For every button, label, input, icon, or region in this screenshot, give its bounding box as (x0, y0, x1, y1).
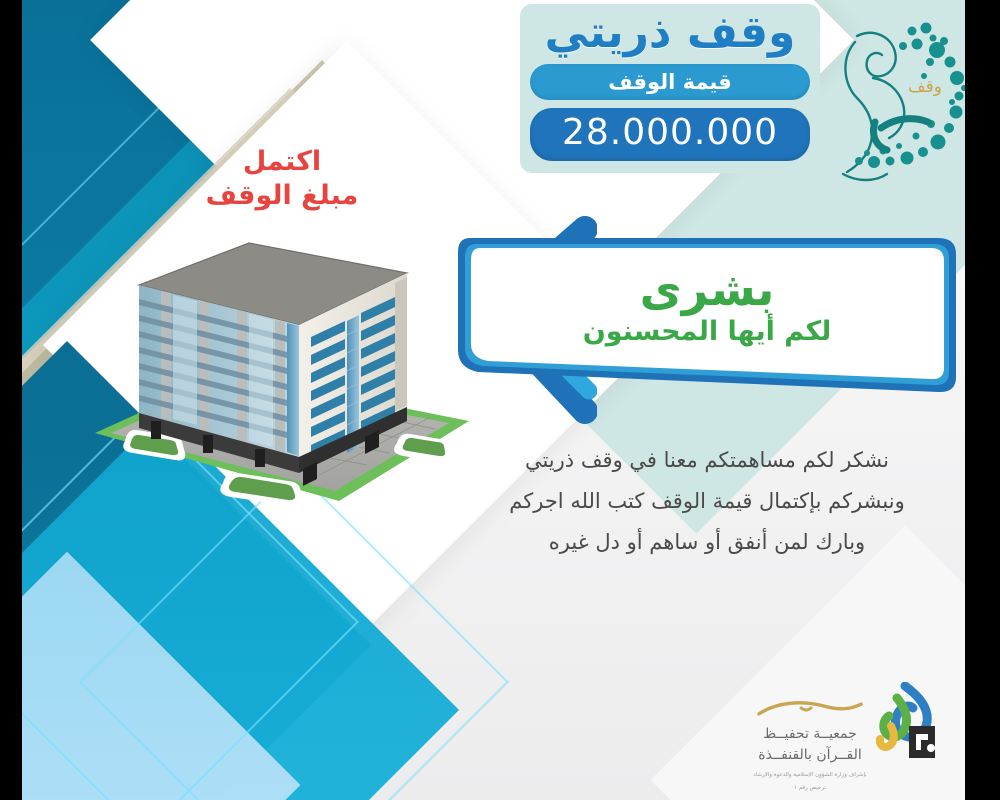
letterbox-bar-left (0, 0, 22, 800)
completed-badge-line1: اكتمل (192, 145, 372, 179)
artboard: وقف ذريتي قيمة الوقف 28.000.000 (22, 0, 965, 800)
letterbox-bar-right (965, 0, 1000, 800)
body-line-1: نشكر لكم مساهمتكم معنا في وقف ذريتي (452, 440, 962, 481)
brand-title: وقف ذريتي (530, 10, 810, 56)
header-plate: وقف ذريتي قيمة الوقف 28.000.000 (520, 4, 820, 173)
association-name-line1: جمعيــة تحفيــظ (751, 724, 869, 745)
waqf-thuriyati-logo: وقف (813, 6, 965, 196)
association-text-group: جمعيــة تحفيــظ القــرآن بالقنفــذة بإشر… (751, 682, 869, 793)
body-line-3: وبارك لمن أنفق أو ساهم أو دل غيره (452, 522, 962, 563)
association-swash-icon (751, 698, 869, 720)
association-name-line2: القــرآن بالقنفــذة (751, 745, 869, 766)
association-registration-line2: ترخيص رقم ١ (751, 784, 869, 792)
completed-badge-line2: مبلغ الوقف (192, 179, 372, 213)
waqf-value-label: قيمة الوقف (530, 64, 810, 100)
building-illustration (77, 225, 477, 515)
association-mark-icon (875, 682, 947, 764)
announcement-banner: بشرى لكم أيها المحسنون (452, 232, 962, 397)
header-panel: وقف ذريتي قيمة الوقف 28.000.000 (520, 4, 820, 173)
body-paragraph: نشكر لكم مساهمتكم معنا في وقف ذريتي ونبش… (452, 440, 962, 563)
association-registration-line1: بإشراف وزارة الشؤون الإسلامية والدعوة وا… (751, 771, 869, 779)
monogram-word-top: وقف (908, 77, 942, 97)
poster-root: وقف ذريتي قيمة الوقف 28.000.000 (0, 0, 1000, 800)
waqf-value-amount: 28.000.000 (530, 108, 810, 161)
completed-badge: اكتمل مبلغ الوقف (192, 145, 372, 213)
banner-headline: بشرى (640, 266, 775, 312)
association-logo: جمعيــة تحفيــظ القــرآن بالقنفــذة بإشر… (717, 682, 947, 792)
banner-subheadline: لكم أيها المحسنون (583, 316, 832, 348)
banner-text-group: بشرى لكم أيها المحسنون (452, 232, 962, 397)
body-line-2: ونبشركم بإكتمال قيمة الوقف كتب الله اجرك… (452, 481, 962, 522)
